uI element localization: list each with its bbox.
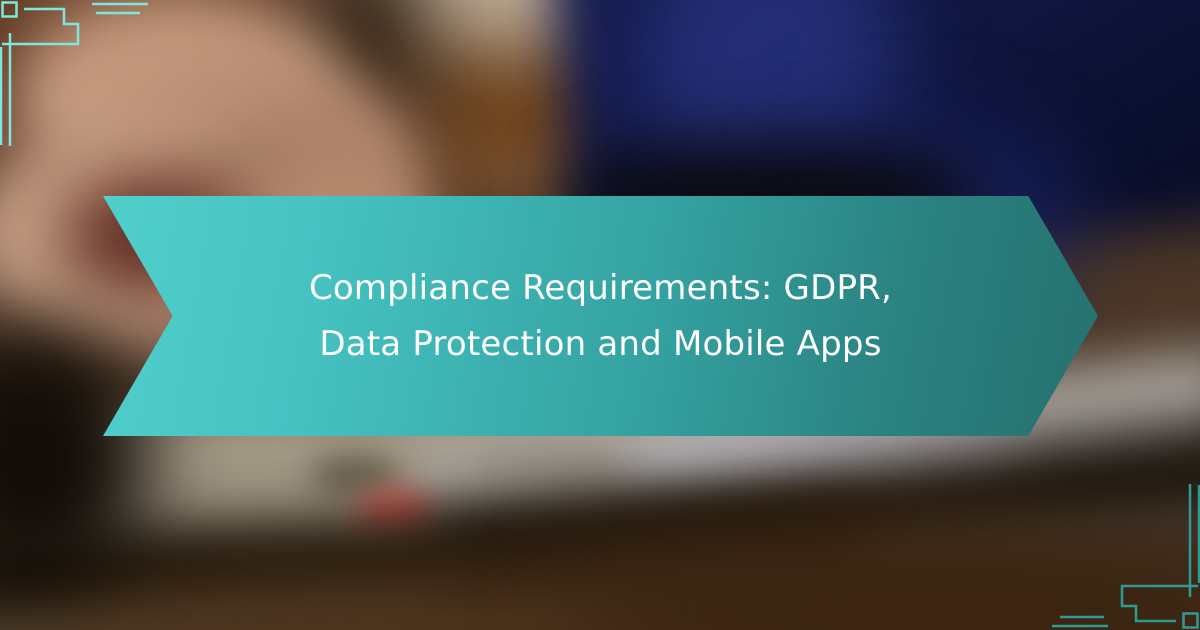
page-title: Compliance Requirements: GDPR, Data Prot…	[271, 260, 931, 372]
background-key-dark	[310, 455, 400, 495]
circuit-corner-bottom-right-icon	[1000, 430, 1200, 630]
background-trackpad	[470, 450, 640, 490]
circuit-corner-top-left-icon	[0, 0, 200, 200]
title-banner: Compliance Requirements: GDPR, Data Prot…	[103, 196, 1098, 436]
share-card: Compliance Requirements: GDPR, Data Prot…	[0, 0, 1200, 630]
